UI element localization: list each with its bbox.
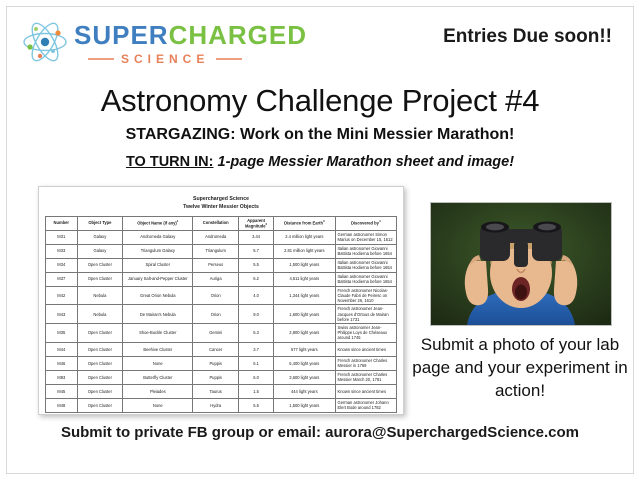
cell-distance: 4,511 light years (274, 272, 335, 286)
table-heading-line2: Twelve Winter Messier Objects (45, 204, 397, 212)
cell-object-type: Open Cluster (77, 398, 123, 412)
entries-due-notice: Entries Due soon!! (443, 26, 612, 48)
cell-distance: 2.81 million light years (274, 244, 335, 258)
cell-number: M31 (46, 230, 78, 244)
table-row: M42NebulaGreat Orion NebulaOrion4.01,344… (46, 286, 397, 305)
col-object-type: Object Type (77, 216, 123, 230)
photo-caption: Submit a photo of your lab page and your… (408, 334, 632, 403)
table-row: M43NebulaDe Mairan's NebulaOrion9.01,600… (46, 305, 397, 324)
cell-magnitude: 5.5 (239, 398, 274, 412)
cell-object-type: Galaxy (77, 230, 123, 244)
cell-discovered-by: French astronomer Charles Messier in 176… (335, 356, 396, 370)
cell-magnitude: 5.3 (239, 324, 274, 343)
cell-discovered-by: German astronomer Simon Marius on Decemb… (335, 230, 396, 244)
cell-object-name: Pleiades (123, 384, 193, 398)
cell-magnitude: 6.1 (239, 356, 274, 370)
table-row: M93Open ClusterButterfly ClusterPuppis6.… (46, 370, 397, 384)
turn-in-line: TO TURN IN: 1-page Messier Marathon shee… (0, 154, 640, 170)
cell-discovered-by: Known since ancient times (335, 384, 396, 398)
table-row: M31GalaxyAndromeda GalaxyAndromeda3.442.… (46, 230, 397, 244)
cell-constellation: Hydra (193, 398, 239, 412)
col-discovered-by: Discovered by4 (335, 216, 396, 230)
logo-word-super: SUPER (74, 20, 169, 50)
cell-number: M42 (46, 286, 78, 305)
logo-word-charged: CHARGED (169, 20, 307, 50)
supercharged-science-logo: SUPERCHARGED SCIENCE (22, 12, 342, 70)
cell-distance: 577 light years (274, 342, 335, 356)
table-heading-line1: Supercharged Science (45, 196, 397, 204)
cell-magnitude: 6.2 (239, 272, 274, 286)
col-apparent-magnitude: Apparent Magnitude2 (239, 216, 274, 230)
table-heading: Supercharged Science Twelve Winter Messi… (45, 196, 397, 212)
cell-distance: 5,400 light years (274, 356, 335, 370)
cell-object-name: Butterfly Cluster (123, 370, 193, 384)
cell-number: M45 (46, 384, 78, 398)
table-row: M44Open ClusterBeehive ClusterCancer3.75… (46, 342, 397, 356)
cell-discovered-by: French astronomer Jean-Jacques d'Ortous … (335, 305, 396, 324)
turn-in-label: TO TURN IN: (126, 154, 214, 170)
cell-constellation: Puppis (193, 370, 239, 384)
table-body: M31GalaxyAndromeda GalaxyAndromeda3.442.… (46, 230, 397, 412)
table-row: M45Open ClusterPleiadesTaurus1.5444 ligh… (46, 384, 397, 398)
cell-number: M48 (46, 398, 78, 412)
cell-object-name: De Mairan's Nebula (123, 305, 193, 324)
cell-magnitude: 5.5 (239, 258, 274, 272)
cell-constellation: Andromeda (193, 230, 239, 244)
cell-constellation: Taurus (193, 384, 239, 398)
cell-constellation: Puppis (193, 356, 239, 370)
cell-number: M44 (46, 342, 78, 356)
cell-number: M35 (46, 324, 78, 343)
cell-distance: 1,500 light years (274, 398, 335, 412)
table-row: M46Open ClusterNonePuppis6.15,400 light … (46, 356, 397, 370)
logo-wordmark: SUPERCHARGED (74, 20, 307, 51)
cell-constellation: Orion (193, 286, 239, 305)
cell-discovered-by: Italian astronomer Giovanni Battista Hod… (335, 258, 396, 272)
cell-object-type: Open Cluster (77, 384, 123, 398)
cell-number: M37 (46, 272, 78, 286)
cell-object-type: Open Cluster (77, 370, 123, 384)
cell-discovered-by: Italian astronomer Giovanni Battista Hod… (335, 244, 396, 258)
cell-discovered-by: Known since ancient times (335, 342, 396, 356)
messier-objects-table: Number Object Type Object Name (if any)1… (45, 216, 397, 413)
boy-with-binoculars-photo (430, 202, 612, 326)
cell-number: M43 (46, 305, 78, 324)
cell-object-name: Great Orion Nebula (123, 286, 193, 305)
logo-subtitle: SCIENCE (88, 52, 242, 66)
cell-object-name: Shoe-Buckle Cluster (123, 324, 193, 343)
cell-distance: 2,800 light years (274, 324, 335, 343)
cell-number: M93 (46, 370, 78, 384)
cell-distance: 1,500 light years (274, 258, 335, 272)
cell-object-name: Andromeda Galaxy (123, 230, 193, 244)
table-row: M35Open ClusterShoe-Buckle ClusterGemini… (46, 324, 397, 343)
col-number: Number (46, 216, 78, 230)
cell-object-type: Open Cluster (77, 324, 123, 343)
cell-object-type: Open Cluster (77, 342, 123, 356)
cell-object-type: Open Cluster (77, 258, 123, 272)
col-distance-from-earth: Distance from Earth3 (274, 216, 335, 230)
cell-object-name: None (123, 398, 193, 412)
cell-discovered-by: German astronomer Johann Elert Bode arou… (335, 398, 396, 412)
cell-constellation: Gemini (193, 324, 239, 343)
page-subtitle: STARGAZING: Work on the Mini Messier Mar… (0, 126, 640, 144)
cell-magnitude: 3.44 (239, 230, 274, 244)
cell-constellation: Cancer (193, 342, 239, 356)
cell-object-type: Nebula (77, 305, 123, 324)
cell-number: M33 (46, 244, 78, 258)
cell-discovered-by: Swiss astronomer Jean-Philippe Loys de C… (335, 324, 396, 343)
table-header-row: Number Object Type Object Name (if any)1… (46, 216, 397, 230)
logo-word-science: SCIENCE (121, 52, 209, 66)
atom-icon (22, 20, 68, 64)
cell-object-type: Open Cluster (77, 272, 123, 286)
table-row: M48Open ClusterNoneHydra5.51,500 light y… (46, 398, 397, 412)
cell-object-name: None (123, 356, 193, 370)
cell-distance: 1,344 light years (274, 286, 335, 305)
cell-number: M34 (46, 258, 78, 272)
cell-distance: 444 light years (274, 384, 335, 398)
table-row: M34Open ClusterSpiral ClusterPerseus5.51… (46, 258, 397, 272)
logo-dash-right (216, 58, 242, 60)
cell-distance: 2.4 million light years (274, 230, 335, 244)
cell-discovered-by: Italian astronomer Giovanni Battista Hod… (335, 272, 396, 286)
cell-distance: 1,600 light years (274, 305, 335, 324)
cell-object-name: Spiral Cluster (123, 258, 193, 272)
submission-footer: Submit to private FB group or email: aur… (0, 424, 640, 441)
slide: SUPERCHARGED SCIENCE Entries Due soon!! … (0, 0, 640, 480)
cell-discovered-by: French astronomer Charles Messier March … (335, 370, 396, 384)
messier-table-card: Supercharged Science Twelve Winter Messi… (38, 186, 404, 415)
cell-object-type: Open Cluster (77, 356, 123, 370)
cell-distance: 3,600 light years (274, 370, 335, 384)
cell-magnitude: 9.0 (239, 305, 274, 324)
col-object-name: Object Name (if any)1 (123, 216, 193, 230)
cell-magnitude: 3.7 (239, 342, 274, 356)
cell-constellation: Perseus (193, 258, 239, 272)
cell-constellation: Auriga (193, 272, 239, 286)
logo-dash-left (88, 58, 114, 60)
table-row: M33GalaxyTriangulum GalaxyTriangulum5.72… (46, 244, 397, 258)
cell-object-name: Beehive Cluster (123, 342, 193, 356)
cell-constellation: Triangulum (193, 244, 239, 258)
cell-magnitude: 6.0 (239, 370, 274, 384)
turn-in-value: 1-page Messier Marathon sheet and image! (218, 154, 515, 170)
cell-object-name: Triangulum Galaxy (123, 244, 193, 258)
cell-number: M46 (46, 356, 78, 370)
page-title: Astronomy Challenge Project #4 (0, 83, 640, 119)
cell-magnitude: 5.7 (239, 244, 274, 258)
cell-object-name: January Salt-and-Pepper Cluster (123, 272, 193, 286)
cell-magnitude: 1.5 (239, 384, 274, 398)
cell-object-type: Nebula (77, 286, 123, 305)
table-row: M37Open ClusterJanuary Salt-and-Pepper C… (46, 272, 397, 286)
cell-magnitude: 4.0 (239, 286, 274, 305)
cell-discovered-by: French astronomer Nicolas-Claude Fabri d… (335, 286, 396, 305)
cell-object-type: Galaxy (77, 244, 123, 258)
col-constellation: Constellation (193, 216, 239, 230)
cell-constellation: Orion (193, 305, 239, 324)
